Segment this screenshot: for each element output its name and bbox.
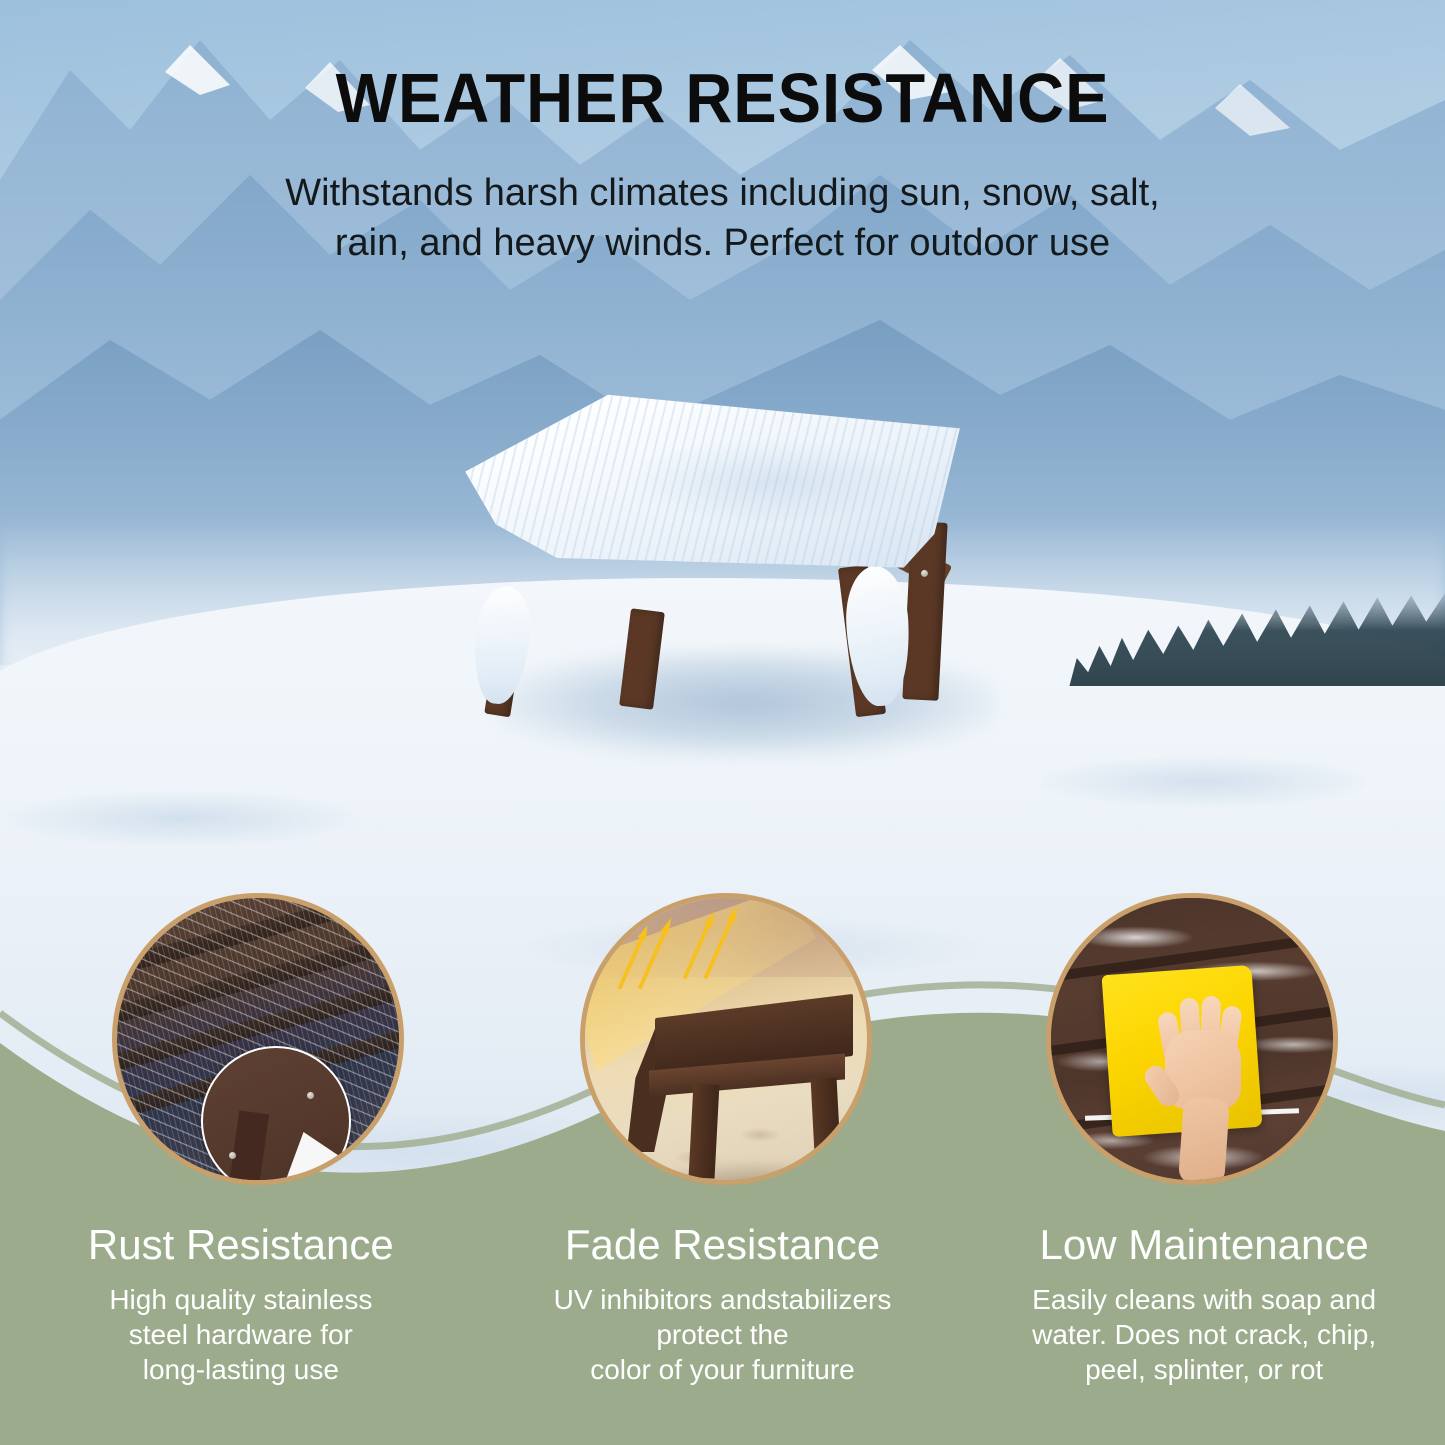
feature-description-line: High quality stainless <box>0 1282 482 1317</box>
snow-covered-bench-icon <box>455 390 995 750</box>
screw-icon <box>307 1092 314 1099</box>
feature-description-line: peel, splinter, or rot <box>963 1352 1445 1387</box>
sun-on-beach-furniture-photo <box>585 898 867 1180</box>
feature-description-line: long-lasting use <box>0 1352 482 1387</box>
feature-fade-resistance: Fade Resistance UV inhibitors andstabili… <box>482 1222 964 1387</box>
page-subtitle: Withstands harsh climates including sun,… <box>223 168 1223 268</box>
feature-image-fade-resistance[interactable] <box>580 893 872 1185</box>
feature-title: Fade Resistance <box>482 1222 964 1268</box>
feature-description: UV inhibitors andstabilizers protect the… <box>482 1282 964 1387</box>
beach-bench-icon <box>621 984 853 1174</box>
bench-leg-right <box>811 1077 842 1172</box>
wrist <box>1178 1097 1230 1185</box>
feature-description: Easily cleans with soap and water. Does … <box>963 1282 1445 1387</box>
feature-description-line: UV inhibitors andstabilizers <box>482 1282 964 1317</box>
weather-resistance-poster: WEATHER RESISTANCE Withstands harsh clim… <box>0 0 1445 1445</box>
feature-title: Rust Resistance <box>0 1222 482 1268</box>
feature-captions: Rust Resistance High quality stainless s… <box>0 1222 1445 1387</box>
feature-description-line: color of your furniture <box>482 1352 964 1387</box>
screw-icon <box>921 570 928 577</box>
feature-description-line: water. Does not crack, chip, <box>963 1317 1445 1352</box>
bench-leg-left <box>689 1083 720 1178</box>
rain-on-furniture-photo <box>117 898 399 1180</box>
subtitle-line-1: Withstands harsh climates including sun,… <box>223 168 1223 218</box>
feature-title: Low Maintenance <box>963 1222 1445 1268</box>
hand-cleaning-with-cloth-photo <box>1051 898 1333 1180</box>
feature-rust-resistance: Rust Resistance High quality stainless s… <box>0 1222 482 1387</box>
inset-highlight <box>277 1132 351 1185</box>
feature-description-line: steel hardware for <box>0 1317 482 1352</box>
page-title: WEATHER RESISTANCE <box>51 58 1395 138</box>
screw-icon <box>229 1152 236 1159</box>
feature-low-maintenance: Low Maintenance Easily cleans with soap … <box>963 1222 1445 1387</box>
feature-description-line: protect the <box>482 1317 964 1352</box>
hand-icon <box>1155 994 1247 1174</box>
feature-circles <box>0 893 1445 1193</box>
magnifier-inset <box>201 1046 351 1185</box>
feature-description-line: Easily cleans with soap and <box>963 1282 1445 1317</box>
feature-description: High quality stainless steel hardware fo… <box>0 1282 482 1387</box>
inset-furniture-leg <box>227 1110 269 1185</box>
feature-image-rust-resistance[interactable] <box>112 893 404 1185</box>
feature-image-low-maintenance[interactable] <box>1046 893 1338 1185</box>
subtitle-line-2: rain, and heavy winds. Perfect for outdo… <box>223 218 1223 268</box>
